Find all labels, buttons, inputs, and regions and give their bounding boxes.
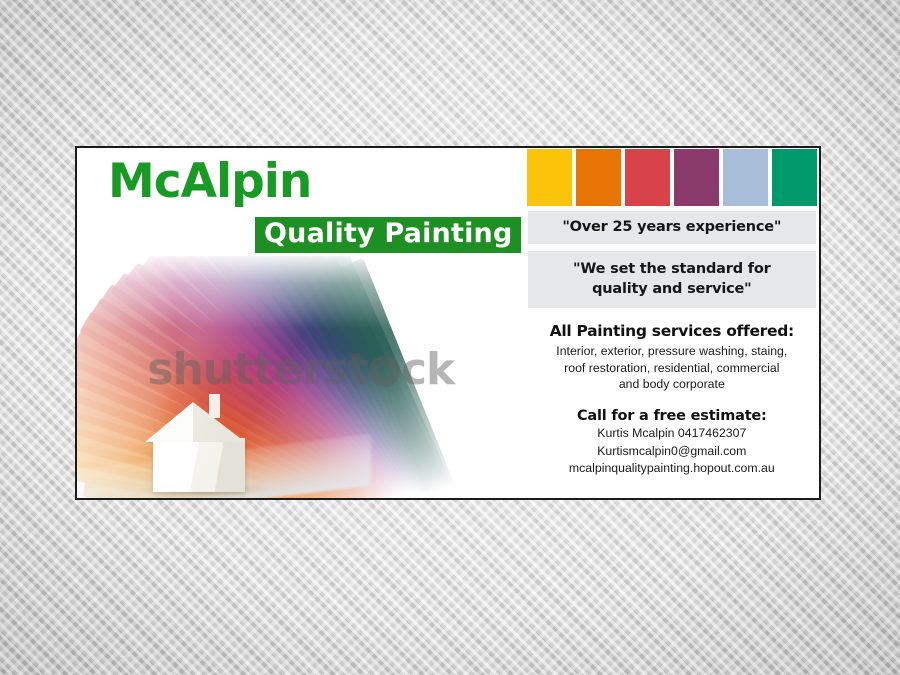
color-swatch-yellow (527, 149, 572, 206)
services-line-1: Interior, exterior, pressure washing, st… (531, 343, 813, 360)
color-swatch-light-blue (723, 149, 768, 206)
color-swatch-row (525, 148, 819, 206)
brand-name: McAlpin (108, 158, 311, 205)
card-left-column: shutterstck McAlpin Quality Painting (77, 148, 525, 498)
quote-standard: "We set the standard for quality and ser… (528, 251, 816, 308)
house-model (139, 400, 257, 492)
color-swatch-green (772, 149, 817, 206)
shutterstock-watermark: shutterstck (77, 344, 525, 395)
services-line-2: roof restoration, residential, commercia… (531, 360, 813, 377)
paint-fandeck-photo: shutterstck (77, 256, 525, 498)
watermark-text-after: ck (401, 344, 454, 395)
watermark-circle-o (369, 356, 400, 387)
house-roof-left (145, 402, 193, 442)
logo-area: McAlpin Quality Painting (77, 148, 525, 260)
services-section: All Painting services offered: Interior,… (525, 322, 819, 393)
house-body (153, 438, 245, 492)
house-chimney (209, 394, 220, 418)
business-card: shutterstck McAlpin Quality Painting "Ov… (75, 146, 821, 500)
quote-standard-line-2: quality and service" (532, 279, 812, 299)
card-right-column: "Over 25 years experience" "We set the s… (525, 148, 819, 498)
contact-title: Call for a free estimate: (531, 408, 813, 424)
quote-standard-line-1: "We set the standard for (532, 259, 812, 279)
color-swatch-purple (674, 149, 719, 206)
contact-email: Kurtismcalpin0@gmail.com (531, 443, 813, 459)
services-list: Interior, exterior, pressure washing, st… (531, 343, 813, 393)
brand-tagline-banner: Quality Painting (255, 217, 521, 253)
color-swatch-red (625, 149, 670, 206)
quote-experience: "Over 25 years experience" (528, 211, 816, 244)
contact-section: Call for a free estimate: Kurtis Mcalpin… (525, 408, 819, 476)
contact-name-phone: Kurtis Mcalpin 0417462307 (531, 425, 813, 441)
watermark-text-before: shutterst (147, 344, 368, 395)
color-swatch-orange (576, 149, 621, 206)
services-line-3: and body corporate (531, 376, 813, 393)
contact-website: mcalpinqualitypainting.hopout.com.au (531, 460, 813, 476)
services-title: All Painting services offered: (531, 322, 813, 340)
